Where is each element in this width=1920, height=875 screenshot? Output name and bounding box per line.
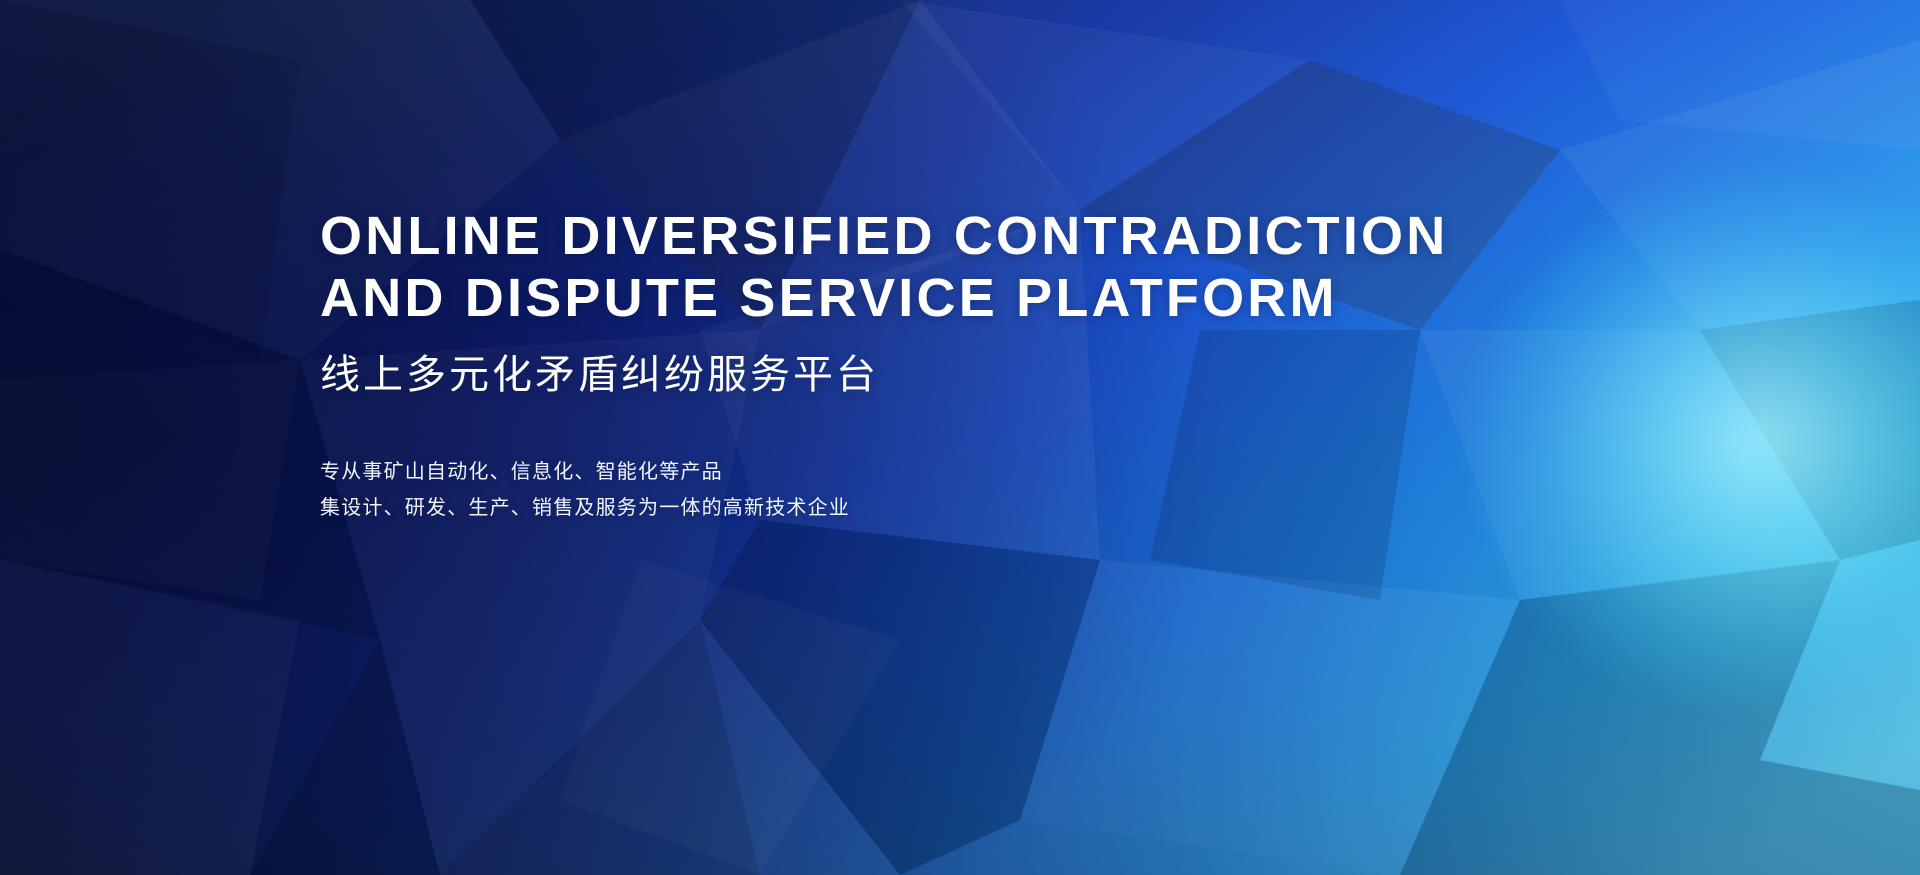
description-line-1: 专从事矿山自动化、信息化、智能化等产品 <box>320 454 1448 490</box>
hero-banner: ONLINE DIVERSIFIED CONTRADICTION AND DIS… <box>0 0 1920 875</box>
banner-subtitle: 线上多元化矛盾纠纷服务平台 <box>320 351 1448 399</box>
headline-line-2: AND DISPUTE SERVICE PLATFORM <box>320 267 1448 329</box>
banner-description: 专从事矿山自动化、信息化、智能化等产品 集设计、研发、生产、销售及服务为一体的高… <box>320 454 1448 526</box>
description-line-2: 集设计、研发、生产、销售及服务为一体的高新技术企业 <box>320 490 1448 526</box>
headline-line-1: ONLINE DIVERSIFIED CONTRADICTION <box>320 205 1448 267</box>
banner-headline: ONLINE DIVERSIFIED CONTRADICTION AND DIS… <box>320 205 1448 329</box>
banner-content: ONLINE DIVERSIFIED CONTRADICTION AND DIS… <box>320 205 1448 526</box>
